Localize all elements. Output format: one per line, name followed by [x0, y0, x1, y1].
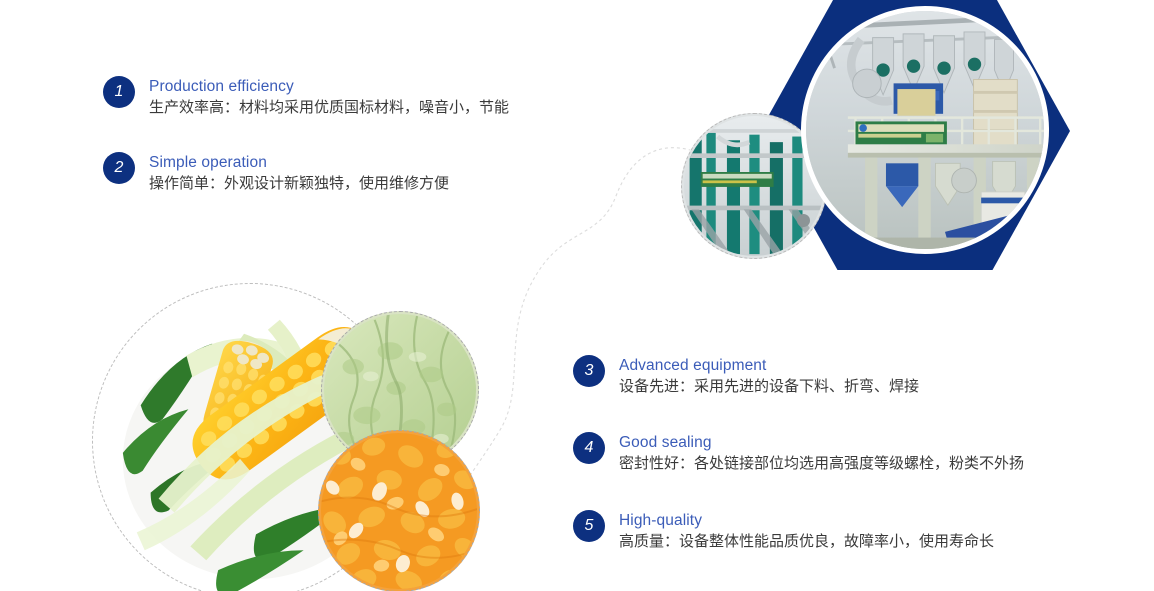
- feature-item-4[interactable]: 4 Good sealing 密封性好：各处链接部位均选用高强度等级螺栓，粉类不…: [573, 432, 1024, 474]
- feature-badge-3: 3: [573, 355, 605, 387]
- feature-text-1: Production efficiency 生产效率高：材料均采用优质国标材料，…: [149, 76, 509, 118]
- corn-kernels-photo: [318, 430, 480, 591]
- flour-mill-plant-illustration: [806, 11, 1044, 249]
- feature-text-3: Advanced equipment 设备先进：采用先进的设备下料、折弯、焊接: [619, 355, 919, 397]
- feature-badge-4: 4: [573, 432, 605, 464]
- feature-item-5[interactable]: 5 High-quality 高质量：设备整体性能品质优良，故障率小，使用寿命长: [573, 510, 994, 552]
- feature-badge-5: 5: [573, 510, 605, 542]
- feature-desc-cn-1: 生产效率高：材料均采用优质国标材料，噪音小，节能: [149, 97, 509, 118]
- feature-badge-1: 1: [103, 76, 135, 108]
- corn-grits-illustration: [321, 433, 477, 589]
- infographic-canvas: 1 Production efficiency 生产效率高：材料均采用优质国标材…: [0, 0, 1154, 591]
- feature-title-en-3: Advanced equipment: [619, 356, 919, 375]
- feature-desc-cn-5: 高质量：设备整体性能品质优良，故障率小，使用寿命长: [619, 531, 994, 552]
- feature-title-en-1: Production efficiency: [149, 77, 509, 96]
- feature-item-1[interactable]: 1 Production efficiency 生产效率高：材料均采用优质国标材…: [103, 76, 509, 118]
- factory-photo-large: [801, 6, 1049, 254]
- feature-text-4: Good sealing 密封性好：各处链接部位均选用高强度等级螺栓，粉类不外扬: [619, 432, 1024, 474]
- feature-title-en-4: Good sealing: [619, 433, 1024, 452]
- feature-text-5: High-quality 高质量：设备整体性能品质优良，故障率小，使用寿命长: [619, 510, 994, 552]
- feature-title-en-2: Simple operation: [149, 153, 449, 172]
- feature-text-2: Simple operation 操作简单：外观设计新颖独特，使用维修方便: [149, 152, 449, 194]
- feature-item-2[interactable]: 2 Simple operation 操作简单：外观设计新颖独特，使用维修方便: [103, 152, 449, 194]
- feature-title-en-5: High-quality: [619, 511, 994, 530]
- feature-desc-cn-3: 设备先进：采用先进的设备下料、折弯、焊接: [619, 376, 919, 397]
- feature-badge-2: 2: [103, 152, 135, 184]
- feature-desc-cn-4: 密封性好：各处链接部位均选用高强度等级螺栓，粉类不外扬: [619, 453, 1024, 474]
- feature-item-3[interactable]: 3 Advanced equipment 设备先进：采用先进的设备下料、折弯、焊…: [573, 355, 919, 397]
- feature-desc-cn-2: 操作简单：外观设计新颖独特，使用维修方便: [149, 173, 449, 194]
